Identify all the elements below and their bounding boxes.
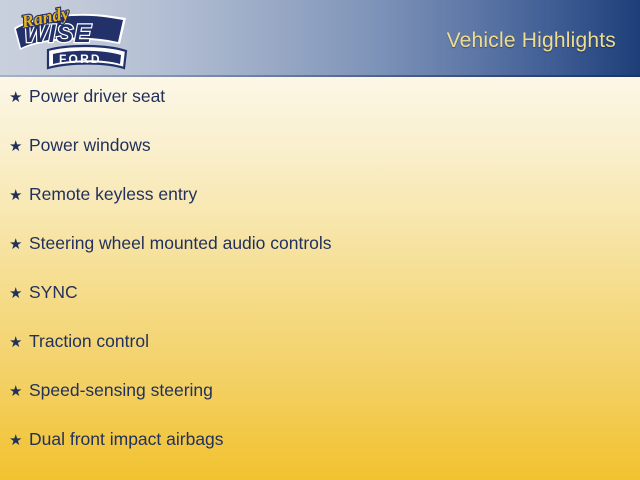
randy-wise-ford-logo: WISE FORD Randy [8,2,140,76]
vehicle-highlights-list: ★ Power driver seat ★ Power windows ★ Re… [0,88,640,480]
list-item: ★ SYNC [0,284,640,333]
highlight-label: Power driver seat [29,88,165,106]
list-item: ★ Steering wheel mounted audio controls [0,235,640,284]
star-bullet-icon: ★ [9,139,29,154]
star-bullet-icon: ★ [9,237,29,252]
highlight-label: Traction control [29,333,149,351]
page-title: Vehicle Highlights [447,29,616,53]
highlight-label: Steering wheel mounted audio controls [29,235,332,253]
star-bullet-icon: ★ [9,433,29,448]
highlight-label: SYNC [29,284,78,302]
list-item: ★ Power windows [0,137,640,186]
highlight-label: Dual front impact airbags [29,431,224,449]
list-item: ★ Remote keyless entry [0,186,640,235]
list-item: ★ Traction control [0,333,640,382]
star-bullet-icon: ★ [9,384,29,399]
list-item: ★ Speed-sensing steering [0,382,640,431]
star-bullet-icon: ★ [9,188,29,203]
star-bullet-icon: ★ [9,335,29,350]
slide-header: WISE FORD Randy Vehicle Highlights [0,0,640,77]
list-item: ★ Power driver seat [0,88,640,137]
star-bullet-icon: ★ [9,90,29,105]
highlight-label: Power windows [29,137,151,155]
header-bottom-rule [0,75,640,77]
svg-text:FORD: FORD [59,52,102,66]
vehicle-highlights-slide: WISE FORD Randy Vehicle Highlights ★ Pow… [0,0,640,480]
star-bullet-icon: ★ [9,286,29,301]
list-item: ★ Dual front impact airbags [0,431,640,480]
highlight-label: Speed-sensing steering [29,382,213,400]
highlight-label: Remote keyless entry [29,186,197,204]
